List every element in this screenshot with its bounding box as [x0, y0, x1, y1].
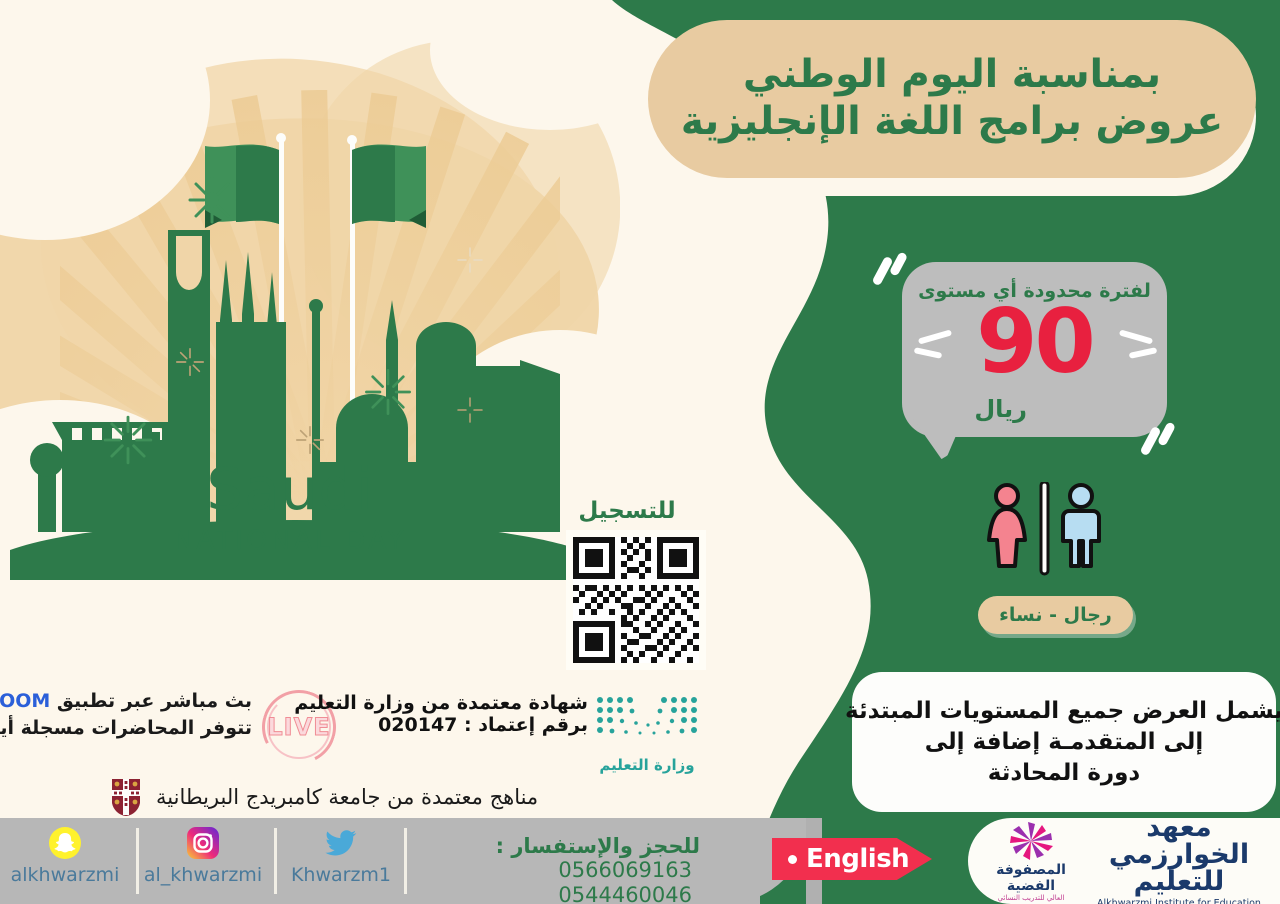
bullet-dot-icon — [788, 855, 797, 864]
partner-name-ar: المصفوفة الفضية — [983, 862, 1079, 894]
social-snapchat[interactable]: alkhwarzmi — [0, 826, 130, 886]
social-handle: Khwarzm1 — [276, 864, 406, 886]
zoom-line-2: تتوفر المحاضرات مسجلة أيضاً — [12, 717, 252, 739]
zoom-line-1-text: بث مباشر عبر تطبيق — [50, 690, 252, 712]
header-line-2: عروض برامج اللغة الإنجليزية — [681, 102, 1223, 143]
cambridge-crest-icon — [110, 777, 142, 817]
offer-details-card: يشمل العرض جميع المستويات المبتدئة إلى ا… — [852, 672, 1276, 812]
social-handle: al_khwarzmi — [138, 864, 268, 886]
header-line-1: بمناسبة اليوم الوطني — [743, 55, 1161, 96]
gender-icons-group — [985, 482, 1105, 572]
twitter-icon — [324, 826, 358, 860]
offer-line-2: إلى المتقدمـة إضافة إلى — [925, 729, 1204, 755]
institute-name-en: Alkhwarzmi Institute for Education — [1093, 898, 1265, 904]
offer-line-3: دورة المحادثة — [988, 760, 1140, 786]
poster-root: بمناسبة اليوم الوطني عروض برامج اللغة ال… — [0, 0, 1280, 904]
partner-sub-ar: العالي للتدريب النسائي — [983, 894, 1079, 902]
english-label: English — [806, 844, 909, 874]
contact-label: للحجز والإستفسار : — [496, 834, 700, 858]
institute-logo: معهد الخوارزمي للتعليم Alkhwarzmi Instit… — [1093, 814, 1265, 904]
cambridge-text: مناهج معتمدة من جامعة كامبريدج البريطاني… — [156, 785, 538, 809]
zoom-feature-block: بث مباشر عبر تطبيق ZOOM تتوفر المحاضرات … — [12, 690, 252, 739]
social-twitter[interactable]: Khwarzm1 — [276, 826, 406, 886]
partner-logo: المصفوفة الفضية العالي للتدريب النسائي — [983, 821, 1079, 902]
social-instagram[interactable]: al_khwarzmi — [138, 826, 268, 886]
price-amount: 90 — [902, 298, 1167, 386]
instagram-icon — [186, 826, 220, 860]
ministry-of-education-logo-icon — [592, 694, 702, 764]
gender-badge: رجال - نساء — [978, 596, 1133, 634]
silver-matrix-burst-icon — [1004, 821, 1058, 861]
ministry-line-1: شهادة معتمدة من وزارة التعليم — [348, 692, 588, 714]
ministry-line-2: برقم إعتماد : 020147 — [348, 714, 588, 736]
artwork-subtitle: NATIONAL DAY — [0, 525, 580, 556]
header-banner: بمناسبة اليوم الوطني عروض برامج اللغة ال… — [648, 20, 1256, 178]
zoom-brand: ZOOM — [0, 690, 50, 712]
snapchat-icon — [48, 826, 82, 860]
ministry-accreditation-block: شهادة معتمدة من وزارة التعليم برقم إعتما… — [348, 692, 588, 736]
contact-phone-1[interactable]: 0566069163 — [558, 858, 692, 882]
cambridge-accreditation-row: مناهج معتمدة من جامعة كامبريدج البريطاني… — [110, 776, 600, 818]
logo-card: المصفوفة الفضية العالي للتدريب النسائي م… — [968, 818, 1280, 904]
contact-block: للحجز والإستفسار : 0566069163 0544460046 — [400, 834, 700, 904]
contact-phone-2[interactable]: 0544460046 — [558, 883, 692, 904]
zoom-line-1: بث مباشر عبر تطبيق ZOOM — [12, 690, 252, 712]
qr-label: للتسجيل — [552, 498, 702, 524]
artwork-title: Saudi — [0, 455, 580, 523]
offer-line-1: يشمل العرض جميع المستويات المبتدئة — [845, 698, 1280, 724]
social-handle: alkhwarzmi — [0, 864, 130, 886]
price-speech-bubble: لفترة محدودة أي مستوى 90 ريال — [902, 262, 1167, 437]
ministry-logo-label: وزارة التعليم — [592, 756, 702, 774]
qr-code[interactable] — [566, 530, 706, 670]
price-currency: ريال — [974, 395, 1027, 423]
institute-name-ar: معهد الخوارزمي للتعليم — [1093, 814, 1265, 895]
